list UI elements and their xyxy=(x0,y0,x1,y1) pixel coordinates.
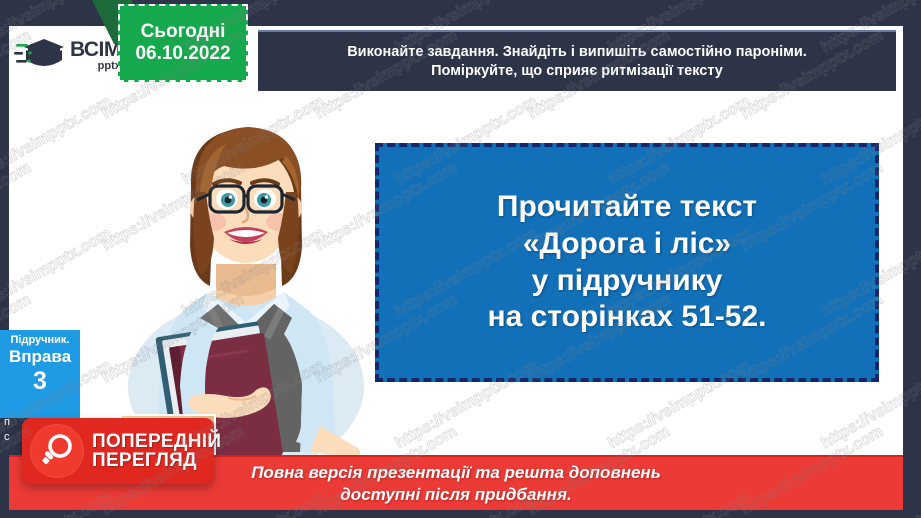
exercise-source-label: Підручник. xyxy=(0,334,80,347)
exercise-number: 3 xyxy=(0,368,80,396)
preview-line-2: ПЕРЕГЛЯД xyxy=(92,451,221,470)
instruction-line-1: Виконайте завдання. Знайдіть і випишіть … xyxy=(347,43,807,62)
exercise-reference-box: Підручник. Вправа 3 xyxy=(0,330,80,418)
banner-line-1: Повна версія презентації та решта доповн… xyxy=(251,462,661,483)
main-box-line-2: «Дорога і ліс» xyxy=(523,226,731,263)
teacher-with-books-illustration xyxy=(96,96,396,456)
task-instruction-bar: Виконайте завдання. Знайдіть і випишіть … xyxy=(258,30,896,91)
graduation-cap-icon xyxy=(14,35,66,75)
main-box-line-1: Прочитайте текст xyxy=(497,189,757,226)
logo-sub-text: pptx xyxy=(70,61,121,72)
date-label: Сьогодні xyxy=(141,21,226,43)
preview-line-1: ПОПЕРЕДНІЙ xyxy=(92,432,221,451)
logo-wordmark: ВСІМ pptx xyxy=(70,39,121,72)
date-value: 06.10.2022 xyxy=(135,43,230,65)
main-box-line-4: на сторінках 51-52. xyxy=(487,299,766,336)
presentation-slide: Прочитайте текст «Дорога і ліс» у підруч… xyxy=(0,0,921,518)
banner-line-2: доступні після придбання. xyxy=(340,484,571,505)
instruction-line-2: Поміркуйте, що сприяє ритмізації тексту xyxy=(431,62,723,81)
exercise-word-label: Вправа xyxy=(0,347,80,367)
preview-badge-text: ПОПЕРЕДНІЙ ПЕРЕГЛЯД xyxy=(92,432,221,470)
main-instruction-box: Прочитайте текст «Дорога і ліс» у підруч… xyxy=(375,143,879,382)
today-date-badge: Сьогодні 06.10.2022 xyxy=(118,4,248,82)
frame-right xyxy=(903,0,921,518)
main-box-line-3: у підручнику xyxy=(532,263,723,300)
preview-badge[interactable]: ПОПЕРЕДНІЙ ПЕРЕГЛЯД xyxy=(22,418,214,484)
magnifier-icon xyxy=(30,424,84,478)
